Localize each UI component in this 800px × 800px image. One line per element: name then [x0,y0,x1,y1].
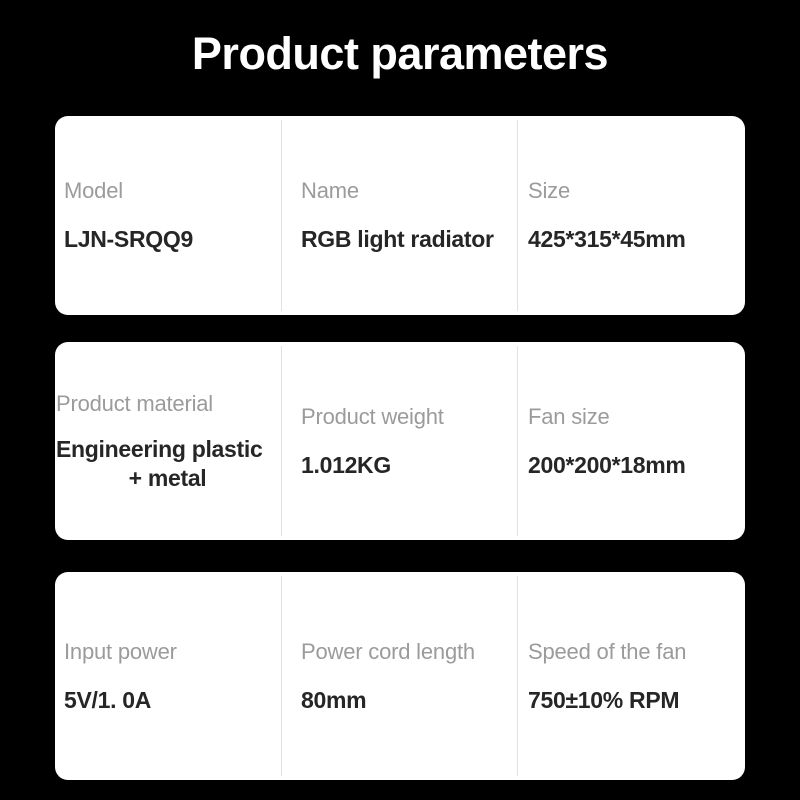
parameter-card-row-2: Product material Engineering plastic + m… [55,342,745,540]
parameter-value-line-2: + metal [56,464,279,493]
parameter-value-line-1: 5V/1. 0A [64,686,271,715]
parameter-value-line-1: 750±10% RPM [528,686,735,715]
parameter-label: Fan size [528,403,735,431]
parameter-label: Model [64,177,271,205]
parameter-cell-model: Model LJN-SRQQ9 [55,116,281,315]
parameter-cell-input-power: Input power 5V/1. 0A [55,572,281,780]
parameter-value-line-1: 425*315*45mm [528,225,735,254]
parameter-value: RGB light radiator [301,225,507,254]
parameter-cell-name: Name RGB light radiator [281,116,517,315]
parameter-value-line-1: Engineering plastic [56,435,279,464]
parameter-label: Product material [56,390,279,418]
parameter-label: Input power [64,638,271,666]
parameter-cell-product-weight: Product weight 1.012KG [281,342,517,540]
parameter-value-line-1: 200*200*18mm [528,451,735,480]
parameter-label: Name [301,177,507,205]
parameter-label: Product weight [301,403,507,431]
parameter-cell-speed-of-the-fan: Speed of the fan 750±10% RPM [517,572,745,780]
parameter-value: 200*200*18mm [528,451,735,480]
parameter-value-line-1: LJN-SRQQ9 [64,225,271,254]
parameter-label: Power cord length [301,638,507,666]
parameter-cell-size: Size 425*315*45mm [517,116,745,315]
page-title: Product parameters [0,26,800,82]
parameter-value-line-1: 80mm [301,686,507,715]
parameter-value: 80mm [301,686,507,715]
parameter-cell-power-cord-length: Power cord length 80mm [281,572,517,780]
parameter-value: Engineering plastic + metal [56,435,279,493]
parameter-card-row-1: Model LJN-SRQQ9 Name RGB light radiator … [55,116,745,315]
parameter-card-row-3: Input power 5V/1. 0A Power cord length 8… [55,572,745,780]
parameter-label: Size [528,177,735,205]
parameter-value: 1.012KG [301,451,507,480]
parameter-value: 5V/1. 0A [64,686,271,715]
parameter-value: 750±10% RPM [528,686,735,715]
parameter-value-line-1: 1.012KG [301,451,507,480]
parameter-value: LJN-SRQQ9 [64,225,271,254]
parameter-value-line-1: RGB light radiator [301,225,507,254]
parameter-label: Speed of the fan [528,638,735,666]
product-parameters-page: Product parameters Model LJN-SRQQ9 Name … [0,0,800,800]
parameter-value: 425*315*45mm [528,225,735,254]
parameter-cell-fan-size: Fan size 200*200*18mm [517,342,745,540]
parameter-cell-product-material: Product material Engineering plastic + m… [55,342,281,540]
